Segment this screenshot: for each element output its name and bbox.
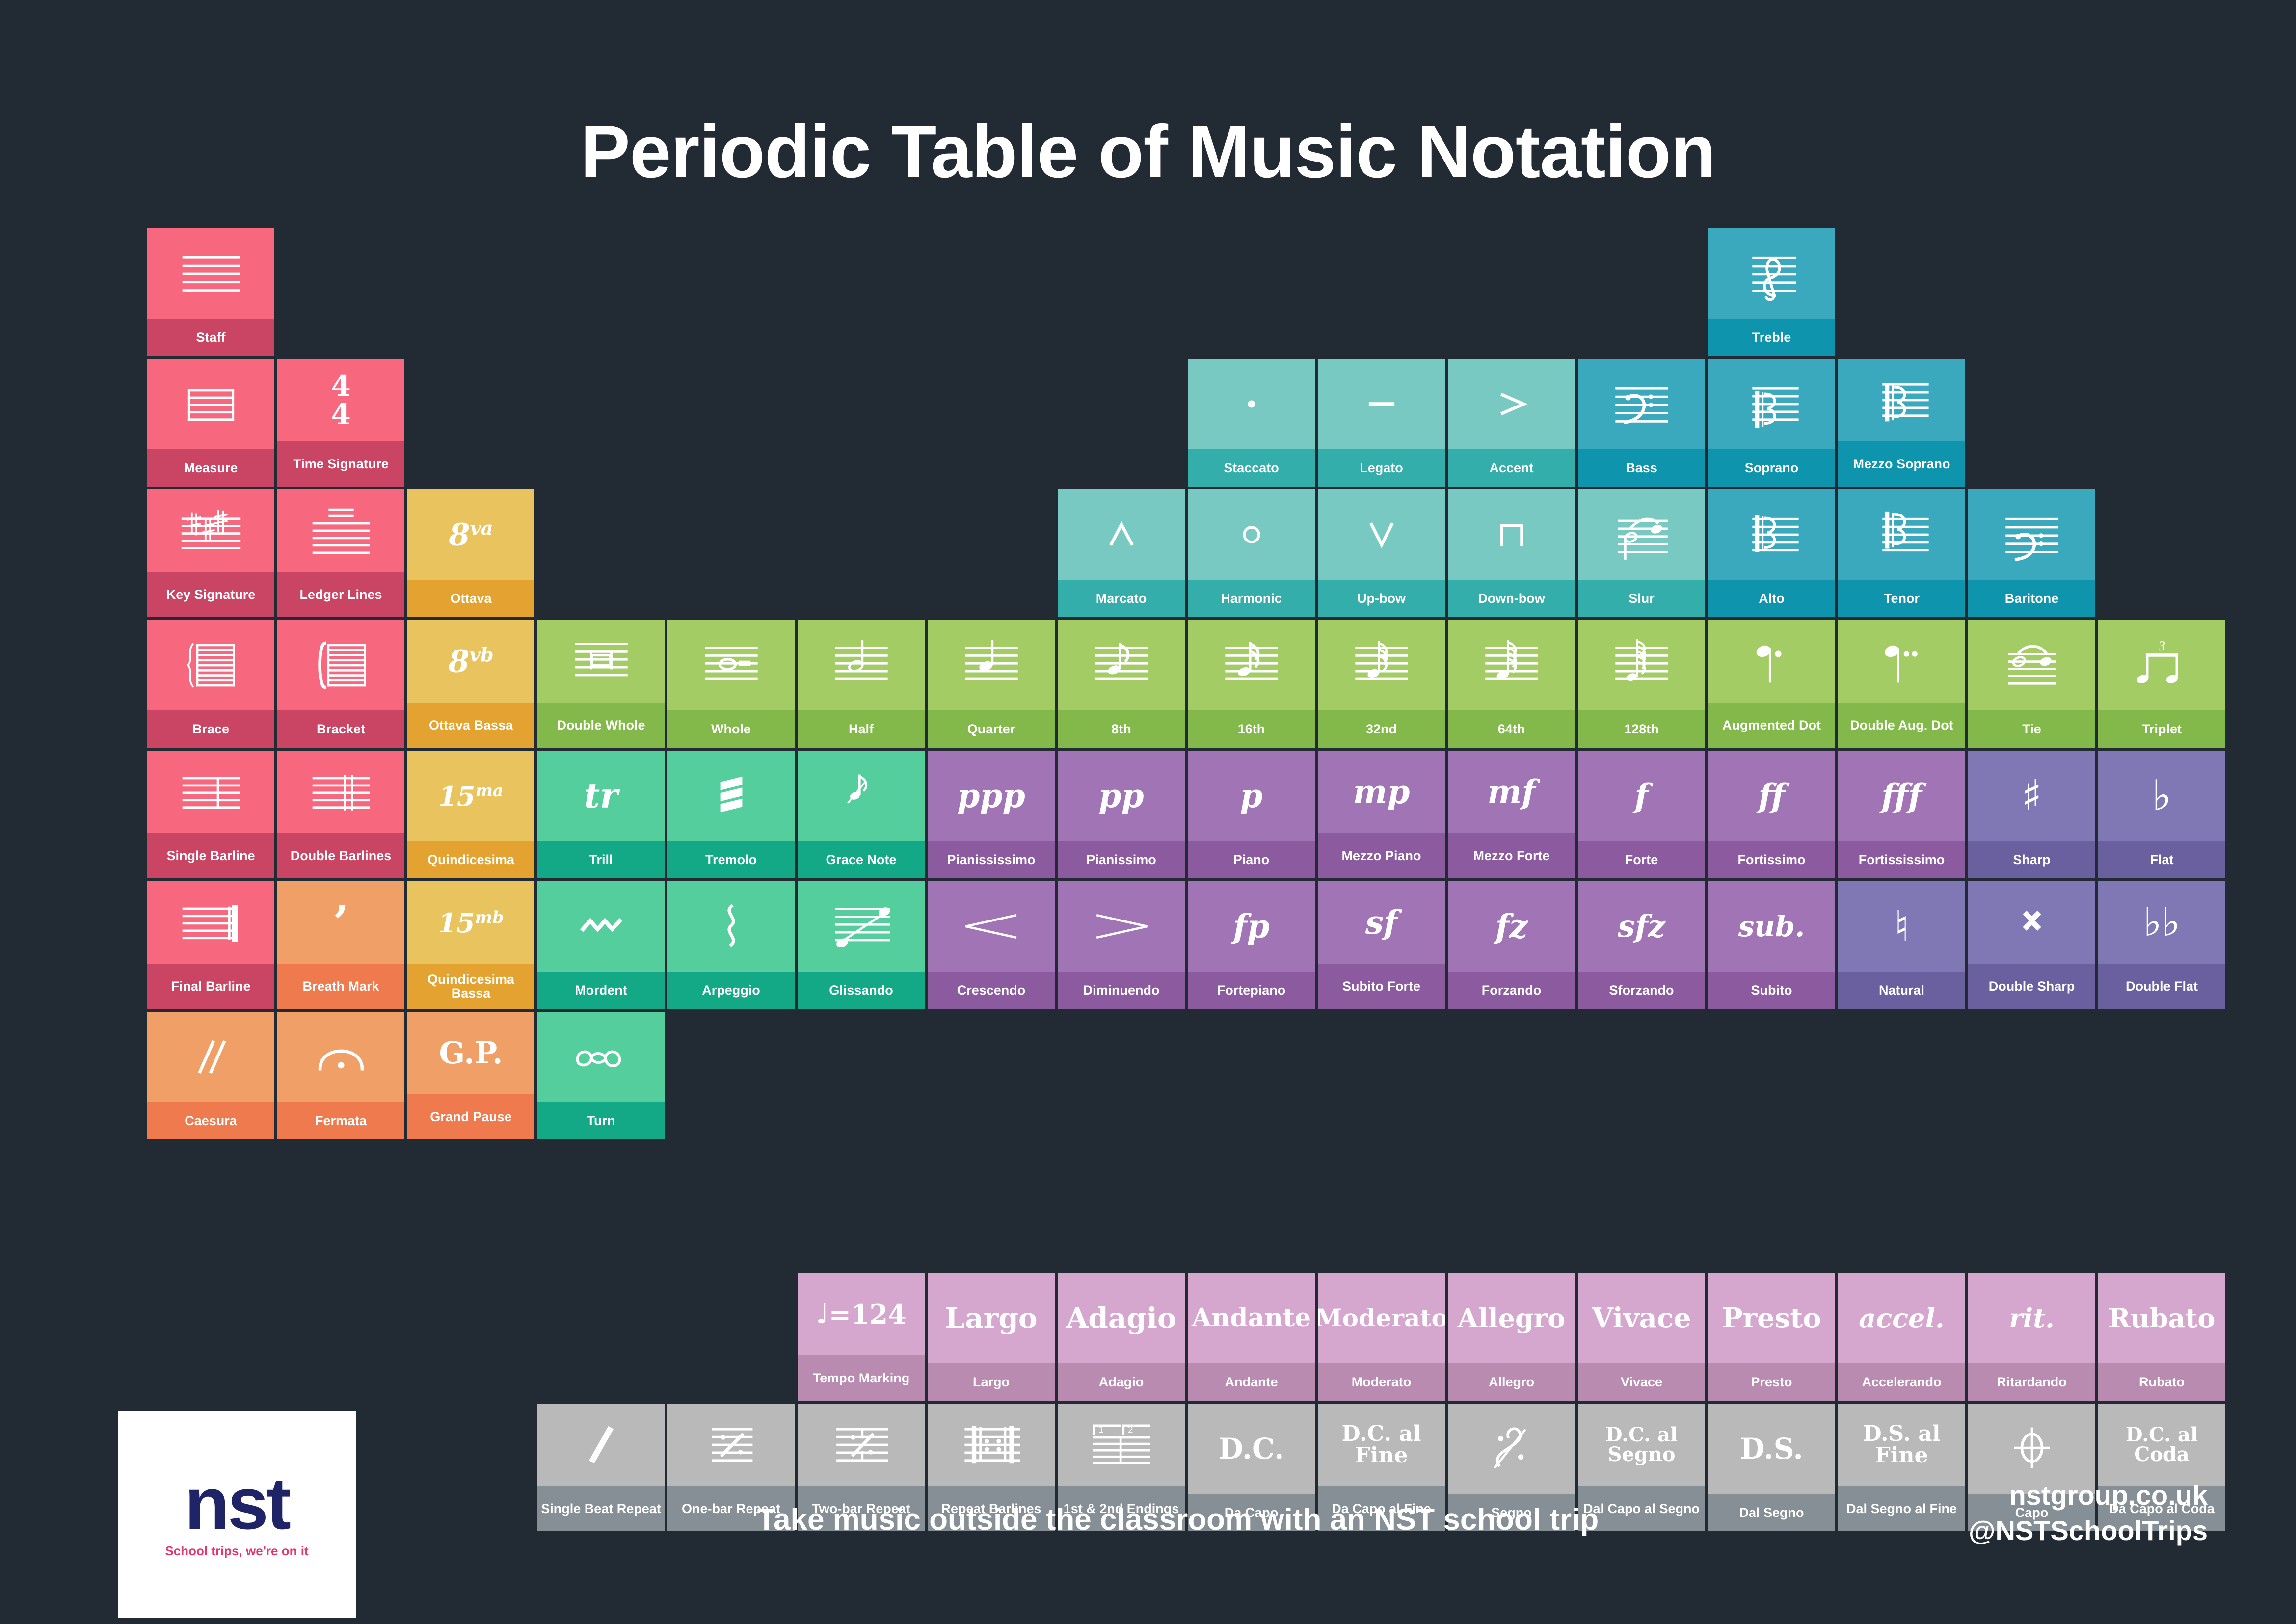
element-baritone[interactable]: Baritone <box>1968 489 2095 617</box>
element-legato[interactable]: Legato <box>1318 359 1445 487</box>
moderato-label: Moderato <box>1318 1363 1445 1401</box>
harmonic-symbol <box>1188 489 1315 580</box>
breath-mark-label: Breath Mark <box>277 964 404 1009</box>
measure-label: Measure <box>147 449 274 487</box>
segno-symbol <box>1448 1404 1575 1494</box>
largo-label: Largo <box>928 1363 1055 1401</box>
element-sforzando[interactable]: sfzSforzando <box>1578 881 1705 1009</box>
double-flat-label: Double Flat <box>2098 964 2225 1009</box>
element-measure[interactable]: Measure <box>147 359 274 487</box>
tremolo-label: Tremolo <box>667 841 795 878</box>
fortepiano-symbol: fp <box>1188 881 1315 972</box>
element-thirtysecond[interactable]: 32nd <box>1318 620 1445 748</box>
element-ritardando[interactable]: rit.Ritardando <box>1968 1273 2095 1401</box>
forte-symbol: f <box>1578 751 1705 841</box>
pianissimo-symbol: pp <box>1058 751 1185 841</box>
element-bass[interactable]: Bass <box>1578 359 1705 487</box>
quarter-label: Quarter <box>928 710 1055 748</box>
element-ottava[interactable]: 8vaOttava <box>407 489 534 617</box>
staff-symbol <box>147 228 274 319</box>
element-allegro[interactable]: AllegroAllegro <box>1448 1273 1575 1401</box>
presto-label: Presto <box>1708 1363 1835 1401</box>
whole-label: Whole <box>667 710 795 748</box>
fortississimo-symbol: fff <box>1838 751 1965 841</box>
ledger-lines-symbol <box>277 489 404 572</box>
element-brace[interactable]: Brace <box>147 620 274 748</box>
element-fortepiano[interactable]: fpFortepiano <box>1188 881 1315 1009</box>
triplet-label: Triplet <box>2098 710 2225 748</box>
allegro-symbol: Allegro <box>1448 1273 1575 1363</box>
crescendo-label: Crescendo <box>928 972 1055 1009</box>
element-vivace[interactable]: VivaceVivace <box>1578 1273 1705 1401</box>
brace-symbol <box>147 620 274 710</box>
pianississimo-symbol: ppp <box>928 751 1055 841</box>
double-aug-dot-symbol <box>1838 620 1965 703</box>
double-whole-symbol <box>537 620 665 703</box>
brace-label: Brace <box>147 710 274 748</box>
element-diminuendo[interactable]: Diminuendo <box>1058 881 1185 1009</box>
soprano-label: Soprano <box>1708 449 1835 487</box>
da-capo-symbol: D.C. <box>1188 1404 1315 1494</box>
nst-logo: nst School trips, we're on it <box>118 1411 356 1618</box>
element-fermata[interactable]: Fermata <box>277 1012 404 1139</box>
double-sharp-label: Double Sharp <box>1968 964 2095 1009</box>
dal-segno-al-fine-symbol: D.S. al Fine <box>1838 1404 1965 1486</box>
double-sharp-symbol <box>1968 881 2095 964</box>
mezzo-soprano-symbol <box>1838 359 1965 441</box>
element-down-bow[interactable]: Down-bow <box>1448 489 1575 617</box>
fortepiano-label: Fortepiano <box>1188 972 1315 1009</box>
sforzando-label: Sforzando <box>1578 972 1705 1009</box>
single-barline-symbol <box>147 751 274 833</box>
up-bow-label: Up-bow <box>1318 580 1445 617</box>
element-double-flat[interactable]: ♭♭Double Flat <box>2098 881 2225 1009</box>
website-url: nstgroup.co.uk <box>1969 1478 2208 1513</box>
eighth-symbol <box>1058 620 1185 710</box>
element-arpeggio[interactable]: Arpeggio <box>667 881 795 1009</box>
quindicesima-bassa-label: Quindicesima Bassa <box>407 964 534 1009</box>
quindicesima-label: Quindicesima <box>407 841 534 878</box>
presto-symbol: Presto <box>1708 1273 1835 1363</box>
thirtysecond-label: 32nd <box>1318 710 1445 748</box>
double-barlines-label: Double Barlines <box>277 833 404 878</box>
triplet-symbol: 3 <box>2098 620 2225 710</box>
element-mordent[interactable]: Mordent <box>537 881 665 1009</box>
element-breath-mark[interactable]: ’Breath Mark <box>277 881 404 1009</box>
element-whole[interactable]: Whole <box>667 620 795 748</box>
sixteenth-label: 16th <box>1188 710 1315 748</box>
rubato-symbol: Rubato <box>2098 1273 2225 1363</box>
fortissimo-symbol: ff <box>1708 751 1835 841</box>
pianississimo-label: Pianississimo <box>928 841 1055 878</box>
key-signature-label: Key Signature <box>147 572 274 617</box>
dal-segno-symbol: D.S. <box>1708 1404 1835 1494</box>
element-quindicesima[interactable]: 15maQuindicesima <box>407 751 534 878</box>
element-subito[interactable]: sub.Subito <box>1708 881 1835 1009</box>
element-mezzo-forte[interactable]: mfMezzo Forte <box>1448 751 1575 878</box>
tremolo-symbol <box>667 751 795 841</box>
flat-symbol: ♭ <box>2098 751 2225 841</box>
bass-label: Bass <box>1578 449 1705 487</box>
forzando-symbol: fz <box>1448 881 1575 972</box>
mezzo-forte-symbol: mf <box>1448 751 1575 833</box>
sharp-symbol: ♯ <box>1968 751 2095 841</box>
dal-capo-al-segno-symbol: D.C. al Segno <box>1578 1404 1705 1486</box>
element-marcato[interactable]: Marcato <box>1058 489 1185 617</box>
element-harmonic[interactable]: Harmonic <box>1188 489 1315 617</box>
ritardando-label: Ritardando <box>1968 1363 2095 1401</box>
element-sharp[interactable]: ♯Sharp <box>1968 751 2095 878</box>
fortissimo-label: Fortissimo <box>1708 841 1835 878</box>
staccato-symbol <box>1188 359 1315 449</box>
element-key-signature[interactable]: Key Signature <box>147 489 274 617</box>
natural-label: Natural <box>1838 972 1965 1009</box>
soprano-symbol <box>1708 359 1835 449</box>
treble-symbol <box>1708 228 1835 319</box>
element-andante[interactable]: AndanteAndante <box>1188 1273 1315 1401</box>
element-quindicesima-bassa[interactable]: 15mbQuindicesima Bassa <box>407 881 534 1009</box>
element-treble[interactable]: Treble <box>1708 228 1835 356</box>
caesura-label: Caesura <box>147 1102 274 1139</box>
footer-tagline: Take music outside the classroom with an… <box>540 1502 1816 1537</box>
turn-symbol <box>537 1012 665 1102</box>
down-bow-symbol <box>1448 489 1575 580</box>
element-sixtyfourth[interactable]: 64th <box>1448 620 1575 748</box>
allegro-label: Allegro <box>1448 1363 1575 1401</box>
element-forzando[interactable]: fzForzando <box>1448 881 1575 1009</box>
final-barline-symbol <box>147 881 274 964</box>
double-whole-label: Double Whole <box>537 703 665 748</box>
slur-label: Slur <box>1578 580 1705 617</box>
element-natural[interactable]: ♮Natural <box>1838 881 1965 1009</box>
element-bracket[interactable]: Bracket <box>277 620 404 748</box>
grace-note-label: Grace Note <box>798 841 925 878</box>
da-capo-al-coda-symbol: D.C. al Coda <box>2098 1404 2225 1486</box>
trill-label: Trill <box>537 841 665 878</box>
largo-symbol: Largo <box>928 1273 1055 1363</box>
ottava-bassa-label: Ottava Bassa <box>407 703 534 748</box>
subito-forte-label: Subito Forte <box>1318 964 1445 1009</box>
glissando-label: Glissando <box>798 972 925 1009</box>
element-tempo-marking[interactable]: ♩=124Tempo Marking <box>798 1273 925 1401</box>
fortississimo-label: Fortississimo <box>1838 841 1965 878</box>
turn-label: Turn <box>537 1102 665 1139</box>
element-glissando[interactable]: Glissando <box>798 881 925 1009</box>
sixteenth-symbol <box>1188 620 1315 710</box>
accent-symbol <box>1448 359 1575 449</box>
legato-label: Legato <box>1318 449 1445 487</box>
element-double-barlines[interactable]: Double Barlines <box>277 751 404 878</box>
element-single-barline[interactable]: Single Barline <box>147 751 274 878</box>
vivace-symbol: Vivace <box>1578 1273 1705 1363</box>
element-piano[interactable]: pPiano <box>1188 751 1315 878</box>
subito-forte-symbol: sf <box>1318 881 1445 964</box>
bass-symbol <box>1578 359 1705 449</box>
mezzo-forte-label: Mezzo Forte <box>1448 833 1575 878</box>
sharp-label: Sharp <box>1968 841 2095 878</box>
piano-label: Piano <box>1188 841 1315 878</box>
quindicesima-bassa-symbol: 15mb <box>407 881 534 964</box>
element-accent[interactable]: Accent <box>1448 359 1575 487</box>
baritone-label: Baritone <box>1968 580 2095 617</box>
subito-label: Subito <box>1708 972 1835 1009</box>
single-barline-label: Single Barline <box>147 833 274 878</box>
bracket-label: Bracket <box>277 710 404 748</box>
one-bar-repeat-symbol <box>667 1404 795 1486</box>
piano-symbol: p <box>1188 751 1315 841</box>
element-crescendo[interactable]: Crescendo <box>928 881 1055 1009</box>
logo-tagline: School trips, we're on it <box>165 1543 308 1559</box>
periodic-table-grid: StaffTrebleMeasure44Time SignatureStacca… <box>147 228 2189 1531</box>
logo-wordmark: nst <box>185 1470 289 1537</box>
mordent-symbol <box>537 881 665 972</box>
element-staccato[interactable]: Staccato <box>1188 359 1315 487</box>
augmented-dot-symbol <box>1708 620 1835 703</box>
glissando-symbol <box>798 881 925 972</box>
element-adagio[interactable]: AdagioAdagio <box>1058 1273 1185 1401</box>
ottava-bassa-symbol: 8vb <box>407 620 534 703</box>
element-ottava-bassa[interactable]: 8vbOttava Bassa <box>407 620 534 748</box>
element-caesura[interactable]: Caesura <box>147 1012 274 1139</box>
element-fortississimo[interactable]: fffFortississimo <box>1838 751 1965 878</box>
measure-symbol <box>147 359 274 449</box>
element-double-aug-dot[interactable]: Double Aug. Dot <box>1838 620 1965 748</box>
svg-text:3: 3 <box>2158 639 2165 654</box>
element-onetwentyeighth[interactable]: 128th <box>1578 620 1705 748</box>
element-subito-forte[interactable]: sfSubito Forte <box>1318 881 1445 1009</box>
adagio-label: Adagio <box>1058 1363 1185 1401</box>
element-grand-pause[interactable]: G.P.Grand Pause <box>407 1012 534 1139</box>
augmented-dot-label: Augmented Dot <box>1708 703 1835 748</box>
whole-symbol <box>667 620 795 710</box>
element-double-whole[interactable]: Double Whole <box>537 620 665 748</box>
two-bar-repeat-symbol <box>798 1404 925 1486</box>
half-label: Half <box>798 710 925 748</box>
element-grace-note[interactable]: Grace Note <box>798 751 925 878</box>
andante-label: Andante <box>1188 1363 1315 1401</box>
vivace-label: Vivace <box>1578 1363 1705 1401</box>
andante-symbol: Andante <box>1188 1273 1315 1363</box>
element-largo[interactable]: LargoLargo <box>928 1273 1055 1401</box>
eighth-label: 8th <box>1058 710 1185 748</box>
treble-label: Treble <box>1708 319 1835 356</box>
time-signature-symbol: 44 <box>277 359 404 441</box>
key-signature-symbol <box>147 489 274 572</box>
sforzando-symbol: sfz <box>1578 881 1705 972</box>
element-pianissimo[interactable]: ppPianissimo <box>1058 751 1185 878</box>
arpeggio-symbol <box>667 881 795 972</box>
element-flat[interactable]: ♭Flat <box>2098 751 2225 878</box>
first-second-endings-symbol: 12 <box>1058 1404 1185 1486</box>
grace-note-symbol <box>798 751 925 841</box>
element-slur[interactable]: Slur <box>1578 489 1705 617</box>
single-beat-repeat-symbol <box>537 1404 665 1486</box>
arpeggio-label: Arpeggio <box>667 972 795 1009</box>
page-title: Periodic Table of Music Notation <box>0 109 2296 195</box>
fermata-label: Fermata <box>277 1102 404 1139</box>
tenor-symbol <box>1838 489 1965 580</box>
double-flat-symbol: ♭♭ <box>2098 881 2225 964</box>
footer-contact: nstgroup.co.uk @NSTSchoolTrips <box>1969 1478 2208 1548</box>
element-alto[interactable]: Alto <box>1708 489 1835 617</box>
quarter-symbol <box>928 620 1055 710</box>
mezzo-piano-label: Mezzo Piano <box>1318 833 1445 878</box>
accent-label: Accent <box>1448 449 1575 487</box>
double-barlines-symbol <box>277 751 404 833</box>
element-double-sharp[interactable]: Double Sharp <box>1968 881 2095 1009</box>
fermata-symbol <box>277 1012 404 1102</box>
staff-label: Staff <box>147 319 274 356</box>
svg-text:2: 2 <box>1128 1425 1133 1435</box>
mordent-label: Mordent <box>537 972 665 1009</box>
up-bow-symbol <box>1318 489 1445 580</box>
element-trill[interactable]: trTrill <box>537 751 665 878</box>
element-tremolo[interactable]: Tremolo <box>667 751 795 878</box>
svg-text:1: 1 <box>1098 1425 1103 1435</box>
sixtyfourth-symbol <box>1448 620 1575 710</box>
caesura-symbol <box>147 1012 274 1102</box>
element-eighth[interactable]: 8th <box>1058 620 1185 748</box>
grand-pause-symbol: G.P. <box>407 1012 534 1094</box>
flat-label: Flat <box>2098 841 2225 878</box>
element-triplet[interactable]: 3Triplet <box>2098 620 2225 748</box>
adagio-symbol: Adagio <box>1058 1273 1185 1363</box>
element-quarter[interactable]: Quarter <box>928 620 1055 748</box>
double-aug-dot-label: Double Aug. Dot <box>1838 703 1965 748</box>
element-time-signature[interactable]: 44Time Signature <box>277 359 404 487</box>
element-rubato[interactable]: RubatoRubato <box>2098 1273 2225 1401</box>
pianissimo-label: Pianissimo <box>1058 841 1185 878</box>
dal-segno-al-fine-label: Dal Segno al Fine <box>1838 1486 1965 1531</box>
ritardando-symbol: rit. <box>1968 1273 2095 1363</box>
tempo-marking-symbol: ♩=124 <box>798 1273 925 1355</box>
element-tie[interactable]: Tie <box>1968 620 2095 748</box>
crescendo-symbol <box>928 881 1055 972</box>
ottava-label: Ottava <box>407 580 534 617</box>
element-turn[interactable]: Turn <box>537 1012 665 1139</box>
accelerando-symbol: accel. <box>1838 1273 1965 1363</box>
element-half[interactable]: Half <box>798 620 925 748</box>
social-handle: @NSTSchoolTrips <box>1969 1513 2208 1548</box>
onetwentyeighth-symbol <box>1578 620 1705 710</box>
element-tenor[interactable]: Tenor <box>1838 489 1965 617</box>
element-soprano[interactable]: Soprano <box>1708 359 1835 487</box>
subito-symbol: sub. <box>1708 881 1835 972</box>
final-barline-label: Final Barline <box>147 964 274 1009</box>
thirtysecond-symbol <box>1318 620 1445 710</box>
sixtyfourth-label: 64th <box>1448 710 1575 748</box>
slur-symbol <box>1578 489 1705 580</box>
marcato-symbol <box>1058 489 1185 580</box>
element-staff[interactable]: Staff <box>147 228 274 356</box>
trill-symbol: tr <box>537 751 665 841</box>
natural-symbol: ♮ <box>1838 881 1965 972</box>
element-pianississimo[interactable]: pppPianississimo <box>928 751 1055 878</box>
legato-symbol <box>1318 359 1445 449</box>
moderato-symbol: Moderato <box>1318 1273 1445 1363</box>
element-augmented-dot[interactable]: Augmented Dot <box>1708 620 1835 748</box>
breath-mark-symbol: ’ <box>277 881 404 964</box>
time-signature-label: Time Signature <box>277 441 404 487</box>
forzando-label: Forzando <box>1448 972 1575 1009</box>
tie-symbol <box>1968 620 2095 710</box>
forte-label: Forte <box>1578 841 1705 878</box>
harmonic-label: Harmonic <box>1188 580 1315 617</box>
element-moderato[interactable]: ModeratoModerato <box>1318 1273 1445 1401</box>
element-dal-segno-al-fine[interactable]: D.S. al FineDal Segno al Fine <box>1838 1404 1965 1531</box>
quindicesima-symbol: 15ma <box>407 751 534 841</box>
ottava-symbol: 8va <box>407 489 534 580</box>
mezzo-soprano-label: Mezzo Soprano <box>1838 441 1965 487</box>
marcato-label: Marcato <box>1058 580 1185 617</box>
diminuendo-symbol <box>1058 881 1185 972</box>
onetwentyeighth-label: 128th <box>1578 710 1705 748</box>
element-fortissimo[interactable]: ffFortissimo <box>1708 751 1835 878</box>
grand-pause-label: Grand Pause <box>407 1094 534 1139</box>
half-symbol <box>798 620 925 710</box>
down-bow-label: Down-bow <box>1448 580 1575 617</box>
accelerando-label: Accelerando <box>1838 1363 1965 1401</box>
tempo-marking-label: Tempo Marking <box>798 1355 925 1401</box>
mezzo-piano-symbol: mp <box>1318 751 1445 833</box>
element-sixteenth[interactable]: 16th <box>1188 620 1315 748</box>
alto-symbol <box>1708 489 1835 580</box>
tie-label: Tie <box>1968 710 2095 748</box>
element-forte[interactable]: fForte <box>1578 751 1705 878</box>
baritone-symbol <box>1968 489 2095 580</box>
bracket-symbol <box>277 620 404 710</box>
element-presto[interactable]: PrestoPresto <box>1708 1273 1835 1401</box>
rubato-label: Rubato <box>2098 1363 2225 1401</box>
element-accelerando[interactable]: accel.Accelerando <box>1838 1273 1965 1401</box>
element-up-bow[interactable]: Up-bow <box>1318 489 1445 617</box>
alto-label: Alto <box>1708 580 1835 617</box>
tenor-label: Tenor <box>1838 580 1965 617</box>
element-ledger-lines[interactable]: Ledger Lines <box>277 489 404 617</box>
diminuendo-label: Diminuendo <box>1058 972 1185 1009</box>
element-mezzo-piano[interactable]: mpMezzo Piano <box>1318 751 1445 878</box>
ledger-lines-label: Ledger Lines <box>277 572 404 617</box>
element-final-barline[interactable]: Final Barline <box>147 881 274 1009</box>
staccato-label: Staccato <box>1188 449 1315 487</box>
element-mezzo-soprano[interactable]: Mezzo Soprano <box>1838 359 1965 487</box>
repeat-barlines-symbol <box>928 1404 1055 1486</box>
da-capo-al-fine-symbol: D.C. al Fine <box>1318 1404 1445 1486</box>
